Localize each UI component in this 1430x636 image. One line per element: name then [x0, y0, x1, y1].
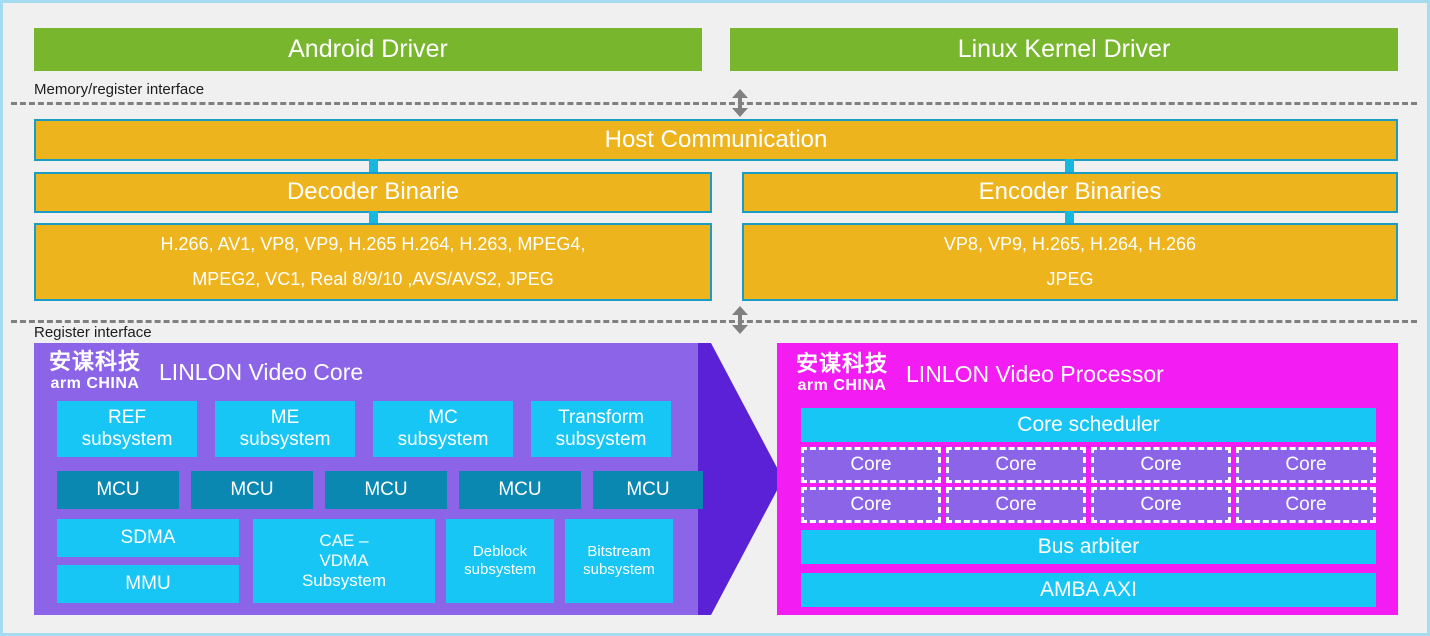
core-label: Core: [850, 454, 891, 476]
core-cell: Core: [801, 447, 941, 483]
mcu-box: MCU: [593, 471, 703, 509]
register-interface-label: Register interface: [34, 324, 152, 341]
video-processor-header: 安谋科技 arm CHINA LINLON Video Processor: [796, 354, 1164, 394]
decoder-codec-list-box: H.266, AV1, VP8, VP9, H.265 H.264, H.263…: [34, 223, 712, 301]
encoder-binaries-box: Encoder Binaries: [742, 172, 1398, 213]
mcu-label: MCU: [364, 479, 407, 501]
ref-subsystem-line: subsystem: [82, 429, 173, 451]
sdma-box: SDMA: [57, 519, 239, 557]
sdma-label: SDMA: [121, 527, 176, 549]
mc-subsystem-box: MC subsystem: [373, 401, 513, 457]
mcu-box: MCU: [57, 471, 179, 509]
core-cell: Core: [1236, 447, 1376, 483]
core-cell: Core: [946, 487, 1086, 523]
register-interface-divider: [11, 320, 1417, 323]
deblock-subsystem-box: Deblock subsystem: [446, 519, 554, 603]
arm-china-logo-cn: 安谋科技: [49, 352, 141, 374]
core-cell: Core: [801, 487, 941, 523]
core-cell: Core: [1091, 487, 1231, 523]
deblock-line: subsystem: [464, 561, 536, 579]
cae-vdma-line: VDMA: [319, 551, 368, 571]
arm-china-logo-cn: 安谋科技: [796, 354, 888, 376]
encoder-codec-line: VP8, VP9, H.265, H.264, H.266: [944, 234, 1196, 255]
amba-axi-box: AMBA AXI: [801, 573, 1376, 607]
encoder-codec-line: JPEG: [1046, 269, 1093, 290]
bus-arbiter-box: Bus arbiter: [801, 530, 1376, 564]
cae-vdma-subsystem-box: CAE – VDMA Subsystem: [253, 519, 435, 603]
decoder-binaries-label: Decoder Binarie: [287, 178, 459, 206]
mmu-box: MMU: [57, 565, 239, 603]
memory-register-interface-arrow: [731, 89, 749, 117]
amba-axi-label: AMBA AXI: [1040, 578, 1137, 603]
me-subsystem-line: subsystem: [240, 429, 331, 451]
mcu-box: MCU: [459, 471, 581, 509]
encoder-codec-list-box: VP8, VP9, H.265, H.264, H.266 JPEG: [742, 223, 1398, 301]
linlon-video-core-panel: 安谋科技 arm CHINA LINLON Video Core REF sub…: [34, 343, 698, 615]
core-label: Core: [1285, 494, 1326, 516]
video-core-title: LINLON Video Core: [159, 359, 363, 386]
video-core-header: 安谋科技 arm CHINA LINLON Video Core: [49, 352, 363, 392]
ref-subsystem-box: REF subsystem: [57, 401, 197, 457]
linux-kernel-driver-label: Linux Kernel Driver: [958, 35, 1171, 65]
transform-subsystem-line: Transform: [558, 407, 644, 429]
me-subsystem-box: ME subsystem: [215, 401, 355, 457]
decoder-binaries-box: Decoder Binarie: [34, 172, 712, 213]
core-label: Core: [1140, 454, 1181, 476]
arm-china-logo-en: arm CHINA: [51, 376, 140, 392]
core-label: Core: [1140, 494, 1181, 516]
mc-subsystem-line: MC: [428, 407, 458, 429]
arm-china-logo-en: arm CHINA: [798, 378, 887, 394]
mcu-label: MCU: [96, 479, 139, 501]
core-label: Core: [850, 494, 891, 516]
transform-subsystem-box: Transform subsystem: [531, 401, 671, 457]
mcu-label: MCU: [498, 479, 541, 501]
cae-vdma-line: Subsystem: [302, 571, 386, 591]
video-processor-title: LINLON Video Processor: [906, 361, 1164, 388]
ref-subsystem-line: REF: [108, 407, 146, 429]
android-driver-bar: Android Driver: [34, 28, 702, 71]
core-label: Core: [1285, 454, 1326, 476]
core-cell: Core: [946, 447, 1086, 483]
bitstream-line: Bitstream: [587, 543, 650, 561]
encoder-binaries-label: Encoder Binaries: [979, 178, 1162, 206]
core-label: Core: [995, 454, 1036, 476]
core-scheduler-box: Core scheduler: [801, 408, 1376, 442]
core-scheduler-label: Core scheduler: [1017, 413, 1159, 438]
host-communication-box: Host Communication: [34, 119, 1398, 161]
bitstream-line: subsystem: [583, 561, 655, 579]
mc-subsystem-line: subsystem: [398, 429, 489, 451]
memory-register-interface-divider: [11, 102, 1417, 105]
me-subsystem-line: ME: [271, 407, 300, 429]
decoder-codec-line: H.266, AV1, VP8, VP9, H.265 H.264, H.263…: [161, 234, 586, 255]
transform-subsystem-line: subsystem: [556, 429, 647, 451]
mcu-box: MCU: [325, 471, 447, 509]
core-cell: Core: [1091, 447, 1231, 483]
memory-register-interface-label: Memory/register interface: [34, 81, 204, 98]
linlon-video-processor-panel: 安谋科技 arm CHINA LINLON Video Processor Co…: [777, 343, 1398, 615]
linux-kernel-driver-bar: Linux Kernel Driver: [730, 28, 1398, 71]
core-label: Core: [995, 494, 1036, 516]
mcu-label: MCU: [626, 479, 669, 501]
android-driver-label: Android Driver: [288, 35, 448, 65]
arm-china-logo: 安谋科技 arm CHINA: [49, 352, 141, 392]
mcu-label: MCU: [230, 479, 273, 501]
decoder-codec-line: MPEG2, VC1, Real 8/9/10 ,AVS/AVS2, JPEG: [192, 269, 554, 290]
deblock-line: Deblock: [473, 543, 527, 561]
host-communication-label: Host Communication: [605, 126, 828, 154]
arm-china-logo: 安谋科技 arm CHINA: [796, 354, 888, 394]
diagram-canvas: Android Driver Linux Kernel Driver Memor…: [0, 0, 1430, 636]
bitstream-subsystem-box: Bitstream subsystem: [565, 519, 673, 603]
mmu-label: MMU: [125, 573, 170, 595]
core-cell: Core: [1236, 487, 1376, 523]
mcu-box: MCU: [191, 471, 313, 509]
cae-vdma-line: CAE –: [319, 531, 368, 551]
bus-arbiter-label: Bus arbiter: [1038, 535, 1140, 560]
